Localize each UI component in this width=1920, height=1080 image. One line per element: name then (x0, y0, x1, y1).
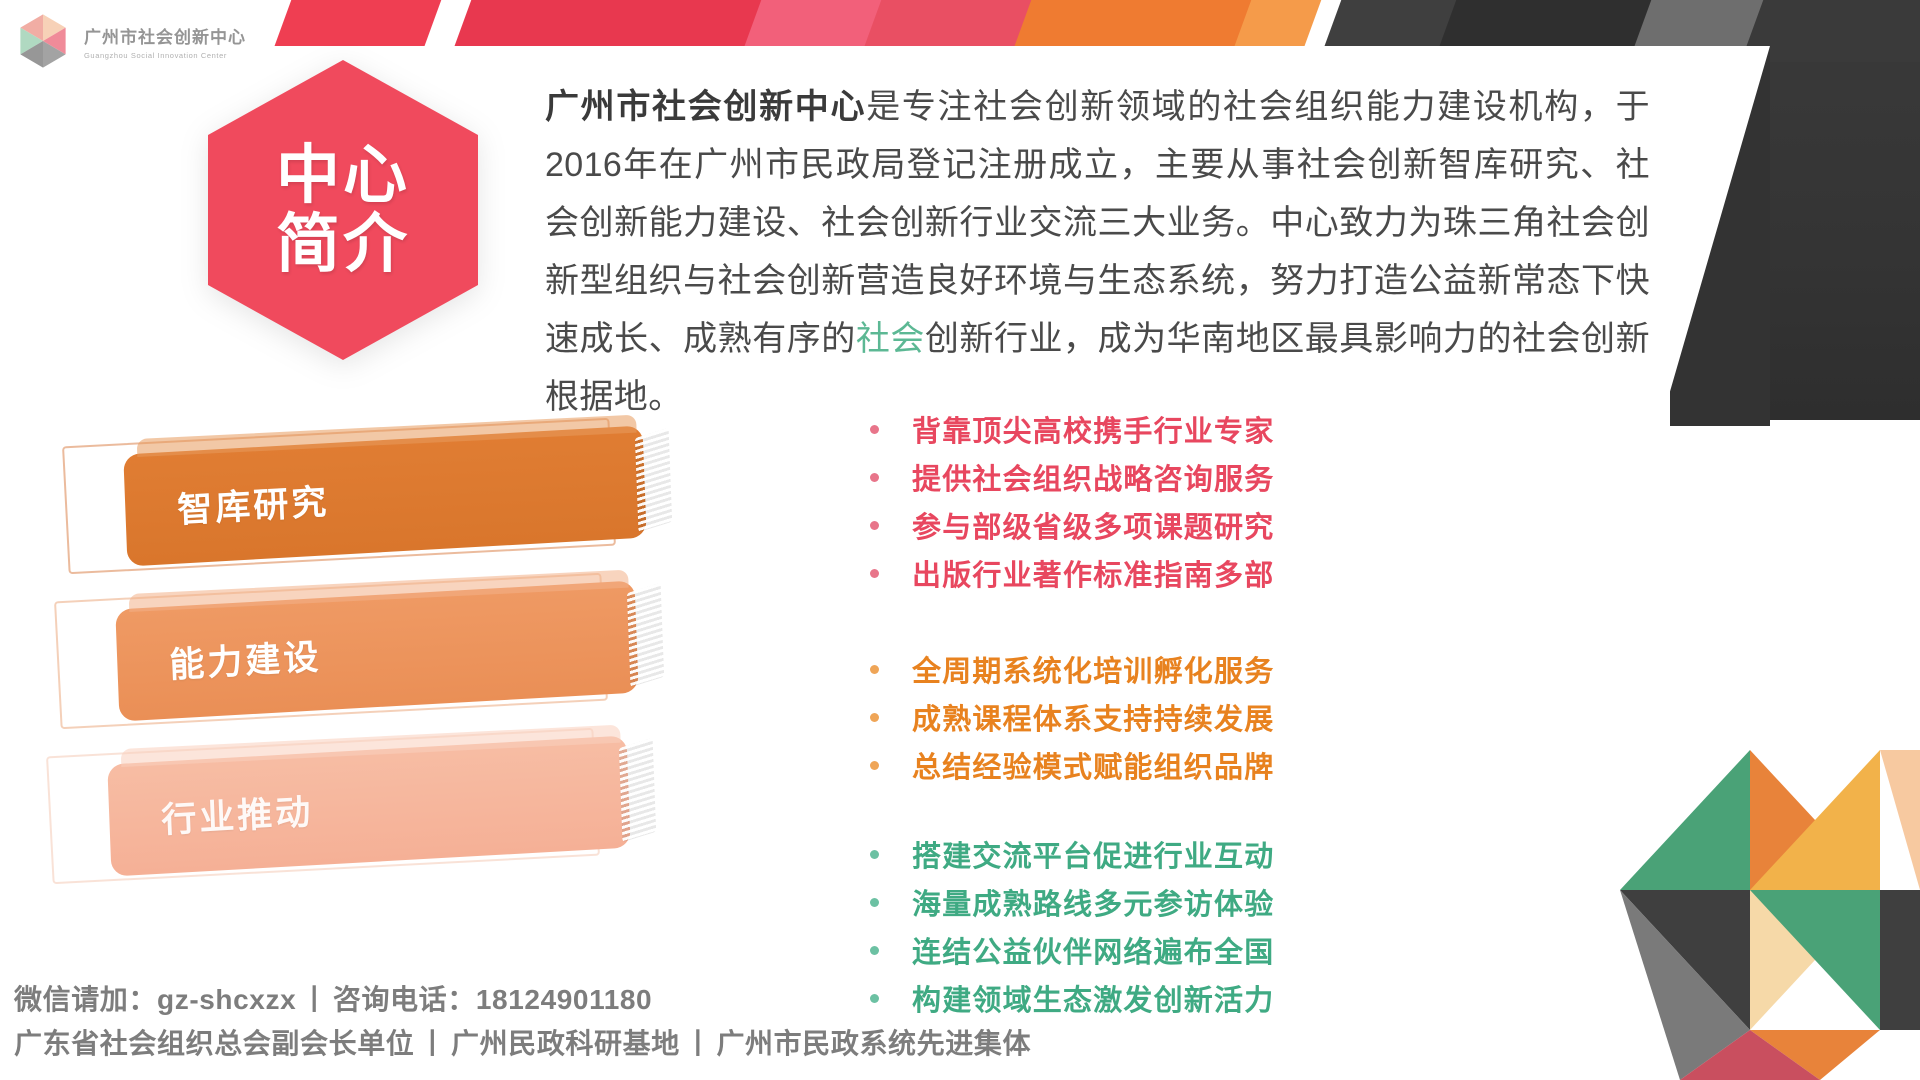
book-pages-icon (619, 738, 656, 842)
geometric-fan-decoration (1520, 650, 1920, 1080)
intro-paragraph: 广州市社会创新中心是专注社会创新领域的社会组织能力建设机构，于2016年在广州市… (545, 78, 1650, 426)
credential-2: 广州民政科研基地 (451, 1028, 680, 1059)
logo-subtitle: Guangzhou Social Innovation Center (84, 51, 246, 60)
right-dark-strip (1770, 0, 1920, 420)
list-item: 成熟课程体系支持持续发展 (870, 693, 1274, 741)
list-item: 海量成熟路线多元参访体验 (870, 878, 1274, 926)
bullet-group-capacity: 全周期系统化培训孵化服务 成熟课程体系支持持续发展 总结经验模式赋能组织品牌 (870, 645, 1274, 789)
bullet-dot-icon (870, 946, 879, 955)
footer-separator: 丨 (296, 984, 333, 1015)
bullet-dot-icon (870, 713, 879, 722)
book-stack-graphic: 智库研究 能力建设 行业推动 (55, 440, 775, 1000)
wechat-label: 微信请加： (14, 984, 157, 1015)
bullet-label: 总结经验模式赋能组织品牌 (912, 744, 1274, 786)
bullet-label: 成熟课程体系支持持续发展 (912, 696, 1274, 738)
bullet-label: 出版行业著作标准指南多部 (912, 552, 1274, 594)
phone-label: 咨询电话： (333, 984, 476, 1015)
right-dark-notch-shape (1660, 46, 1770, 426)
bullet-label: 全周期系统化培训孵化服务 (912, 648, 1274, 690)
bullet-group-research: 背靠顶尖高校携手行业专家 提供社会组织战略咨询服务 参与部级省级多项课题研究 出… (870, 405, 1274, 597)
list-item: 背靠顶尖高校携手行业专家 (870, 405, 1274, 453)
intro-highlight: 社会 (856, 320, 925, 358)
bullet-label: 海量成熟路线多元参访体验 (912, 881, 1274, 923)
footer-line-contact: 微信请加：gz-shcxzx丨咨询电话：18124901180 (14, 978, 1031, 1022)
book-top-edge (121, 725, 621, 767)
brand-logo: 广州市社会创新中心 Guangzhou Social Innovation Ce… (8, 10, 298, 72)
hexagon-logo-icon (14, 12, 72, 70)
bullet-dot-icon (870, 850, 879, 859)
bullet-label: 参与部级省级多项课题研究 (912, 504, 1274, 546)
book-label: 能力建设 (168, 629, 322, 688)
bullet-dot-icon (870, 569, 879, 578)
list-item: 全周期系统化培训孵化服务 (870, 645, 1274, 693)
list-item: 提供社会组织战略咨询服务 (870, 453, 1274, 501)
list-item: 总结经验模式赋能组织品牌 (870, 741, 1274, 789)
footer-contact: 微信请加：gz-shcxzx丨咨询电话：18124901180 广东省社会组织总… (14, 978, 1031, 1066)
intro-body-part1: 是专注社会创新领域的社会组织能力建设机构，于2016年在广州市民政局登记注册成立… (545, 88, 1650, 358)
badge-line-1: 中心 (276, 141, 410, 210)
list-item: 参与部级省级多项课题研究 (870, 501, 1274, 549)
book-top-edge (129, 570, 629, 612)
bullet-dot-icon (870, 665, 879, 674)
book-label: 行业推动 (160, 784, 314, 843)
wechat-value: gz-shcxzx (157, 984, 296, 1015)
bullet-dot-icon (870, 761, 879, 770)
footer-separator: 丨 (414, 1028, 451, 1059)
slide-canvas: 广州市社会创新中心 Guangzhou Social Innovation Ce… (0, 0, 1920, 1080)
list-item: 连结公益伙伴网络遍布全国 (870, 926, 1274, 974)
credential-3: 广州市民政系统先进集体 (716, 1028, 1031, 1059)
hexagon-shape: 中心 简介 (208, 60, 478, 360)
book-pages-icon (635, 428, 672, 532)
bullet-label: 搭建交流平台促进行业互动 (912, 833, 1274, 875)
footer-line-credentials: 广东省社会组织总会副会长单位丨广州民政科研基地丨广州市民政系统先进集体 (14, 1022, 1031, 1066)
bullet-dot-icon (870, 473, 879, 482)
bullet-label: 背靠顶尖高校携手行业专家 (912, 408, 1274, 450)
book-label: 智库研究 (176, 474, 330, 533)
phone-value: 18124901180 (476, 984, 652, 1015)
bullet-dot-icon (870, 898, 879, 907)
list-item: 出版行业著作标准指南多部 (870, 549, 1274, 597)
credential-1: 广东省社会组织总会副会长单位 (14, 1028, 414, 1059)
intro-bold-lead: 广州市社会创新中心 (545, 88, 866, 126)
book-pages-icon (627, 583, 664, 687)
bullet-dot-icon (870, 425, 879, 434)
footer-separator: 丨 (680, 1028, 717, 1059)
list-item: 搭建交流平台促进行业互动 (870, 830, 1274, 878)
logo-title: 广州市社会创新中心 (84, 23, 246, 48)
bullet-label: 提供社会组织战略咨询服务 (912, 456, 1274, 498)
badge-line-2: 简介 (276, 210, 410, 279)
section-badge: 中心 简介 (208, 60, 478, 360)
bullet-dot-icon (870, 521, 879, 530)
bullet-label: 连结公益伙伴网络遍布全国 (912, 929, 1274, 971)
